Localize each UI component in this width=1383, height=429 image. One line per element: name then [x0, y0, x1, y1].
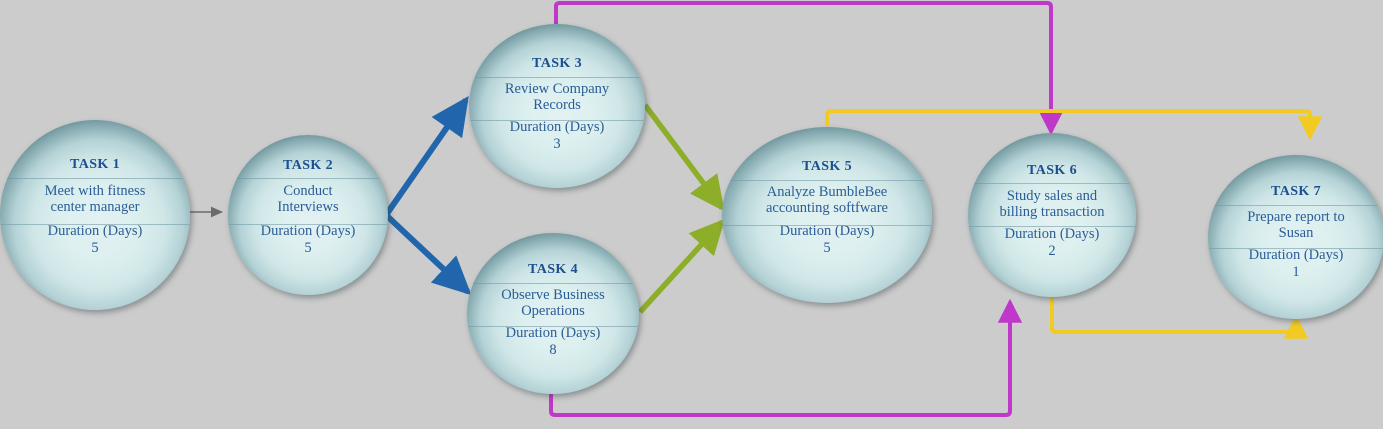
node-task5-desc-line2: accounting softfware — [722, 200, 932, 216]
node-task1-content: TASK 1 Meet with fitness center manager … — [0, 120, 190, 310]
node-task1-duration-label: Duration (Days) — [0, 223, 190, 239]
node-task6-desc-line2: billing transaction — [968, 204, 1136, 220]
node-task2-desc-line1: Conduct — [228, 183, 388, 199]
node-task3-title: TASK 3 — [469, 56, 645, 72]
node-task4-content: TASK 4 Observe Business Operations Durat… — [467, 233, 639, 394]
node-task7[interactable]: TASK 7 Prepare report to Susan Duration … — [1208, 155, 1383, 319]
edge-task2-task3 — [386, 100, 466, 215]
node-task4[interactable]: TASK 4 Observe Business Operations Durat… — [467, 233, 639, 394]
node-task4-desc-line1: Observe Business — [467, 287, 639, 303]
node-task4-title: TASK 4 — [467, 262, 639, 278]
node-task3[interactable]: TASK 3 Review Company Records Duration (… — [469, 24, 645, 188]
node-task6-duration-value: 2 — [968, 243, 1136, 259]
node-task6[interactable]: TASK 6 Study sales and billing transacti… — [968, 133, 1136, 297]
node-task5-title: TASK 5 — [722, 159, 932, 175]
node-task5[interactable]: TASK 5 Analyze BumbleBee accounting soft… — [722, 127, 932, 303]
node-task5-duration-value: 5 — [722, 240, 932, 256]
node-task2-desc-line2: Interviews — [228, 199, 388, 215]
edge-task3-task5 — [645, 105, 722, 208]
node-task3-duration-label: Duration (Days) — [469, 119, 645, 135]
node-task2-duration-label: Duration (Days) — [228, 223, 388, 239]
node-task1-desc-line2: center manager — [0, 199, 190, 215]
node-task3-duration-value: 3 — [469, 136, 645, 152]
node-task2-content: TASK 2 Conduct Interviews Duration (Days… — [228, 135, 388, 295]
node-task7-duration-value: 1 — [1208, 264, 1383, 280]
node-task5-content: TASK 5 Analyze BumbleBee accounting soft… — [722, 127, 932, 303]
node-task2-duration-value: 5 — [228, 240, 388, 256]
node-task3-desc-line2: Records — [469, 97, 645, 113]
node-task7-desc-line2: Susan — [1208, 225, 1383, 241]
node-task6-duration-label: Duration (Days) — [968, 226, 1136, 242]
node-task7-content: TASK 7 Prepare report to Susan Duration … — [1208, 155, 1383, 319]
node-task3-desc-line1: Review Company — [469, 81, 645, 97]
node-task6-desc-line1: Study sales and — [968, 188, 1136, 204]
node-task1-desc-line1: Meet with fitness — [0, 183, 190, 199]
edge-task2-task4 — [386, 215, 468, 292]
node-task5-desc-line1: Analyze BumbleBee — [722, 184, 932, 200]
node-task3-content: TASK 3 Review Company Records Duration (… — [469, 24, 645, 188]
node-task1-duration-value: 5 — [0, 240, 190, 256]
node-task7-desc-line1: Prepare report to — [1208, 209, 1383, 225]
node-task2[interactable]: TASK 2 Conduct Interviews Duration (Days… — [228, 135, 388, 295]
node-task6-content: TASK 6 Study sales and billing transacti… — [968, 133, 1136, 297]
node-task6-title: TASK 6 — [968, 163, 1136, 179]
node-task4-desc-line2: Operations — [467, 303, 639, 319]
node-task4-duration-label: Duration (Days) — [467, 325, 639, 341]
node-task4-duration-value: 8 — [467, 342, 639, 358]
edge-layer — [0, 0, 1383, 429]
node-task1[interactable]: TASK 1 Meet with fitness center manager … — [0, 120, 190, 310]
node-task7-title: TASK 7 — [1208, 184, 1383, 200]
node-task2-title: TASK 2 — [228, 158, 388, 174]
node-task1-title: TASK 1 — [0, 157, 190, 173]
edge-task4-task5 — [640, 222, 722, 312]
node-task7-duration-label: Duration (Days) — [1208, 247, 1383, 263]
diagram-canvas: TASK 1 Meet with fitness center manager … — [0, 0, 1383, 429]
